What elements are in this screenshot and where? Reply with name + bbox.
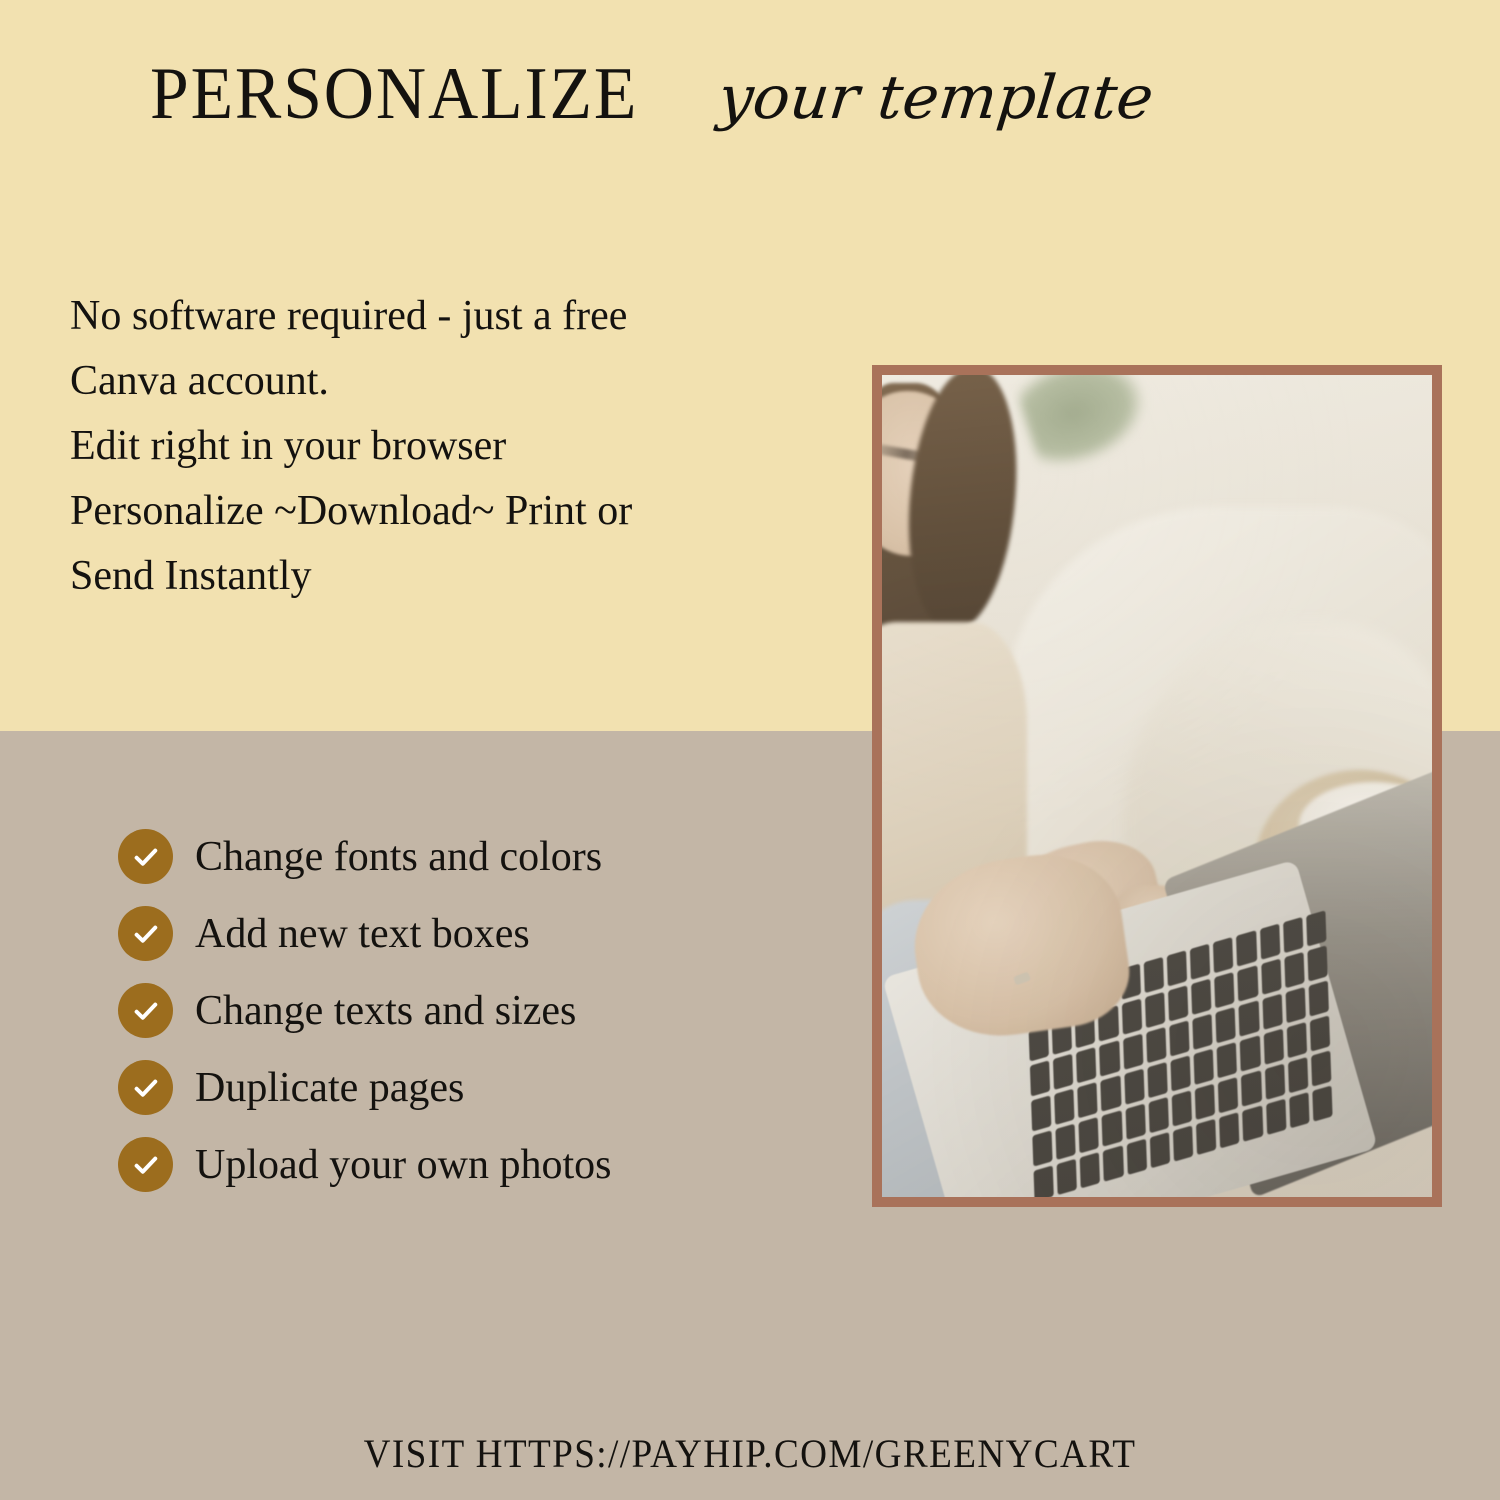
feature-label: Add new text boxes [195, 913, 530, 955]
list-item: Duplicate pages [118, 1049, 838, 1126]
feature-label: Duplicate pages [195, 1067, 464, 1109]
feature-label: Change fonts and colors [195, 836, 602, 878]
page-title-script: your template [715, 63, 1157, 133]
intro-line: No software required - just a free [70, 284, 860, 349]
check-circle-icon [118, 1060, 173, 1115]
promo-graphic: PERSONALIZEyour template No software req… [0, 0, 1500, 1500]
footer-url[interactable]: VISIT HTTPS://PAYHIP.COM/GREENYCART [53, 1430, 1448, 1477]
lifestyle-photo [882, 375, 1432, 1197]
feature-list: Change fonts and colors Add new text box… [118, 818, 838, 1203]
intro-paragraph: No software required - just a free Canva… [70, 284, 860, 609]
intro-line: Canva account. [70, 349, 860, 414]
list-item: Change texts and sizes [118, 972, 838, 1049]
check-circle-icon [118, 983, 173, 1038]
check-circle-icon [118, 1137, 173, 1192]
list-item: Add new text boxes [118, 895, 838, 972]
feature-label: Upload your own photos [195, 1144, 611, 1186]
intro-line: Personalize ~Download~ Print or [70, 479, 860, 544]
intro-line: Edit right in your browser [70, 414, 860, 479]
check-circle-icon [118, 906, 173, 961]
list-item: Upload your own photos [118, 1126, 838, 1203]
page-title-main: PERSONALIZE [150, 52, 638, 137]
intro-line: Send Instantly [70, 544, 860, 609]
page-title: PERSONALIZEyour template [150, 52, 1141, 137]
list-item: Change fonts and colors [118, 818, 838, 895]
check-circle-icon [118, 829, 173, 884]
photo-frame [872, 365, 1442, 1207]
feature-label: Change texts and sizes [195, 990, 576, 1032]
